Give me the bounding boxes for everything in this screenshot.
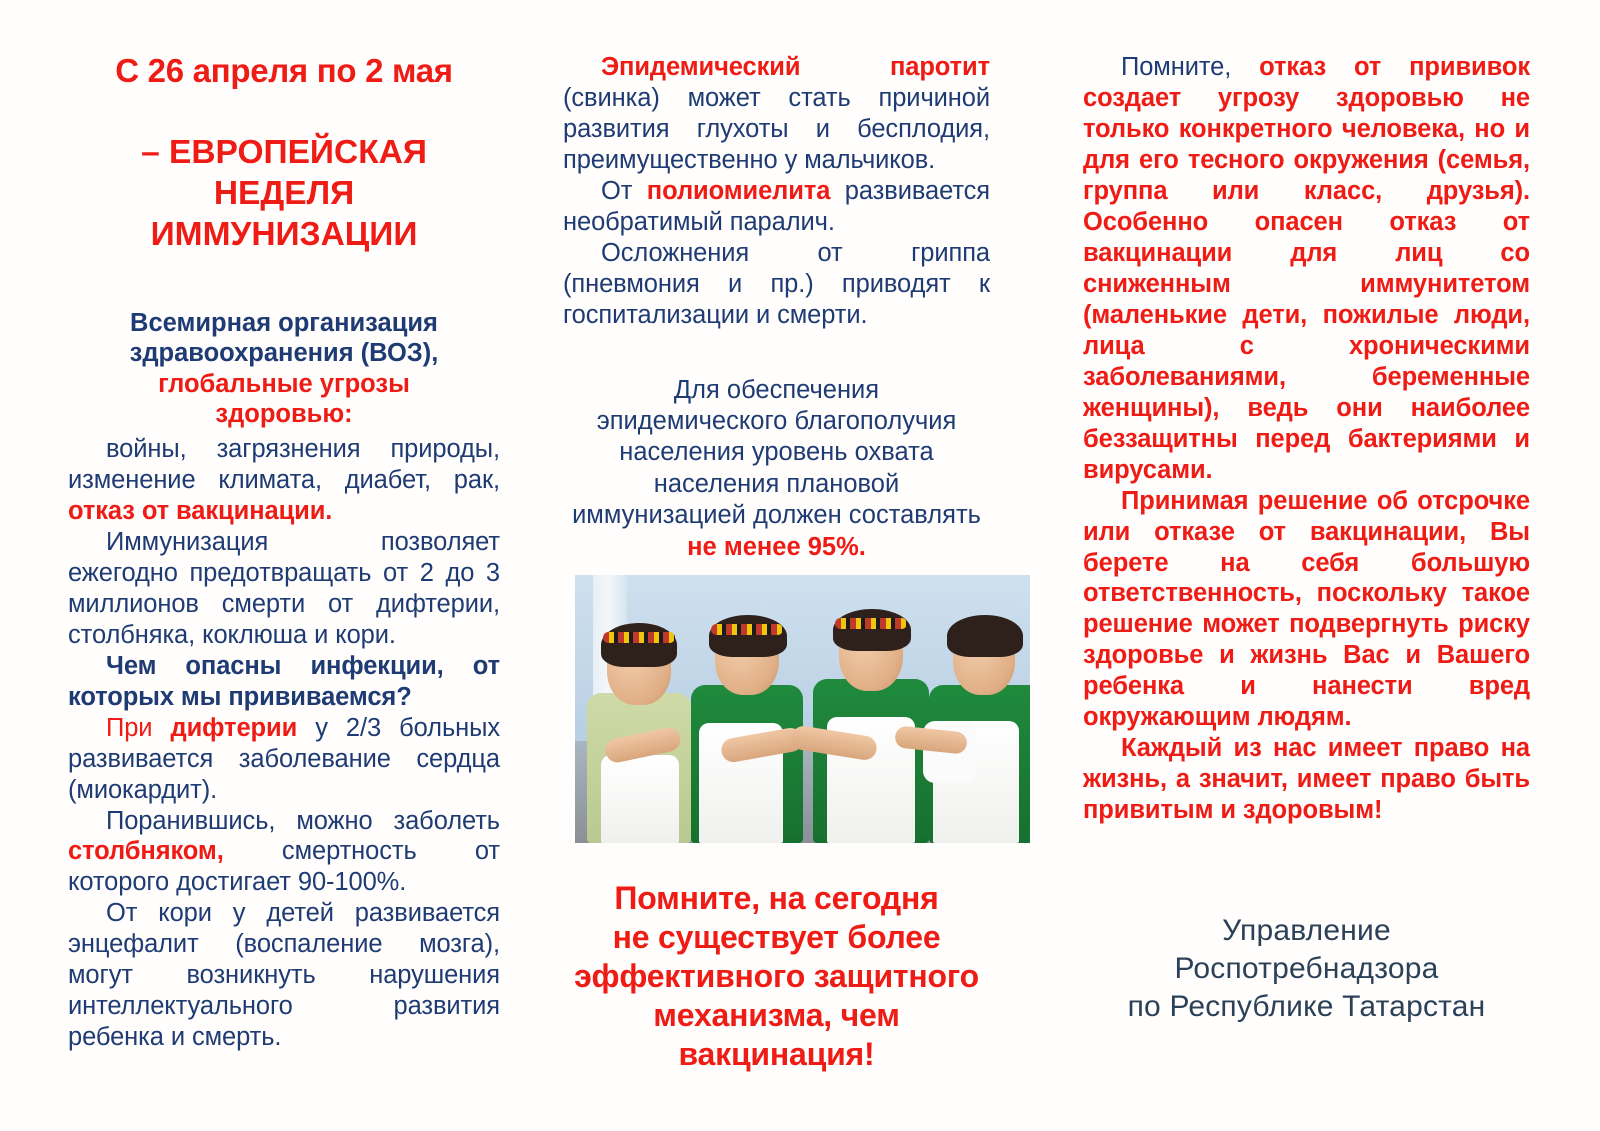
who-threats-line-1: глобальные угрозы: [158, 370, 410, 398]
polio-lead: От: [601, 177, 647, 205]
refusal-risk-lead: Помните,: [1121, 53, 1259, 81]
child-1-headband: [603, 632, 675, 643]
slogan-vaccination: Помните, на сегодня не существует более …: [563, 879, 990, 1074]
paragraph-question-infections: Чем опасны инфекции, от которых мы приви…: [68, 651, 500, 713]
coverage-threshold: не менее 95%.: [687, 533, 866, 561]
who-threats-line-2: здоровью:: [215, 400, 352, 428]
who-global-threats-heading: Всемирная организация здравоохранения (В…: [68, 308, 500, 430]
child-1-apron: [601, 755, 679, 843]
refusal-risk-body: отказ от прививок создает угрозу здоровь…: [1083, 53, 1530, 484]
column-left-body: войны, загрязнения природы, изменение кл…: [68, 434, 500, 1053]
tetanus-lead: Поранившись, можно заболеть: [106, 807, 500, 835]
footer-line-2: Роспотребнадзора: [1083, 950, 1530, 988]
slogan-line-3: эффективного защитного: [574, 958, 979, 994]
slogan-line-4: механизма, чем: [653, 997, 899, 1033]
paragraph-immunization-prevents: Иммунизация позволяет ежегодно предотвра…: [68, 527, 500, 651]
mumps-term: Эпидемический паротит: [601, 53, 990, 81]
immunization-brochure: С 26 апреля по 2 мая – ЕВРОПЕЙСКАЯ НЕДЕЛ…: [0, 0, 1600, 1131]
paragraph-refusal-risk: Помните, отказ от прививок создает угроз…: [1083, 52, 1530, 486]
mumps-rest: (свинка) может стать причиной развития г…: [563, 84, 990, 174]
child-2-hair: [709, 615, 787, 657]
child-3-hair: [833, 609, 911, 651]
paragraph-right-to-life: Каждый из нас имеет право на жизнь, а зн…: [1083, 733, 1530, 826]
footer-line-3: по Республике Татарстан: [1083, 988, 1530, 1026]
column-right: Помните, отказ от прививок создает угроз…: [1010, 52, 1600, 1026]
child-2-headband: [711, 624, 783, 635]
who-line-1: Всемирная организация: [130, 309, 438, 337]
tetanus-term: столбняком,: [68, 837, 224, 865]
footer-line-1: Управление: [1083, 912, 1530, 950]
threat-list-highlight: отказ от вакцинации.: [68, 497, 332, 525]
photo-child-2: [687, 585, 813, 843]
child-3-headband: [835, 618, 907, 629]
child-1-hair: [601, 623, 677, 667]
headline-date: С 26 апреля по 2 мая: [68, 52, 500, 91]
slogan-line-2: не существует более: [613, 919, 941, 955]
headline-main-line-2: НЕДЕЛЯ: [214, 175, 354, 212]
slogan-line-1: Помните, на сегодня: [614, 880, 938, 916]
column-left: С 26 апреля по 2 мая – ЕВРОПЕЙСКАЯ НЕДЕЛ…: [0, 52, 510, 1053]
slogan-line-5: вакцинация!: [678, 1036, 874, 1072]
paragraph-measles: От кори у детей развивается энцефалит (в…: [68, 898, 500, 1053]
paragraph-decision-responsibility: Принимая решение об отсрочке или отказе …: [1083, 486, 1530, 734]
column-middle: Эпидемический паротит (свинка) может ста…: [510, 52, 1010, 1074]
headline-main-line-3: ИММУНИЗАЦИИ: [151, 216, 418, 253]
who-line-2: здравоохранения (ВОЗ),: [130, 339, 439, 367]
paragraph-mumps: Эпидемический паротит (свинка) может ста…: [563, 52, 990, 176]
paragraph-tetanus: Поранившись, можно заболеть столбняком, …: [68, 806, 500, 899]
paragraph-diphtheria: При дифтерии у 2/3 больных развивается з…: [68, 713, 500, 806]
coverage-line-5: иммунизацией должен составлять: [572, 501, 981, 529]
headline-main-line-1: – ЕВРОПЕЙСКАЯ: [141, 134, 427, 171]
coverage-line-4: населения плановой: [654, 470, 899, 498]
diphtheria-lead: При: [106, 714, 171, 742]
photo-child-1: [583, 593, 701, 843]
paragraph-threat-list: войны, загрязнения природы, изменение кл…: [68, 434, 500, 527]
column-middle-body: Эпидемический паротит (свинка) может ста…: [563, 52, 990, 331]
coverage-line-2: эпидемического благополучия: [597, 407, 957, 435]
polio-term: полиомиелита: [647, 177, 831, 205]
footer-organization: Управление Роспотребнадзора по Республик…: [1083, 912, 1530, 1025]
coverage-statement: Для обеспечения эпидемического благополу…: [563, 375, 990, 563]
diphtheria-term: дифтерии: [171, 714, 298, 742]
headline-main: – ЕВРОПЕЙСКАЯ НЕДЕЛЯ ИММУНИЗАЦИИ: [68, 133, 500, 256]
paragraph-polio: От полиомиелита развивается необратимый …: [563, 176, 990, 238]
paragraph-influenza: Осложнения от гриппа (пневмония и пр.) п…: [563, 238, 990, 331]
photo-child-3: [807, 581, 937, 843]
coverage-line-3: населения уровень охвата: [619, 438, 933, 466]
coverage-line-1: Для обеспечения: [674, 376, 879, 404]
photo-vaccinated-children: [575, 575, 1030, 843]
threat-list-plain: войны, загрязнения природы, изменение кл…: [68, 435, 500, 494]
